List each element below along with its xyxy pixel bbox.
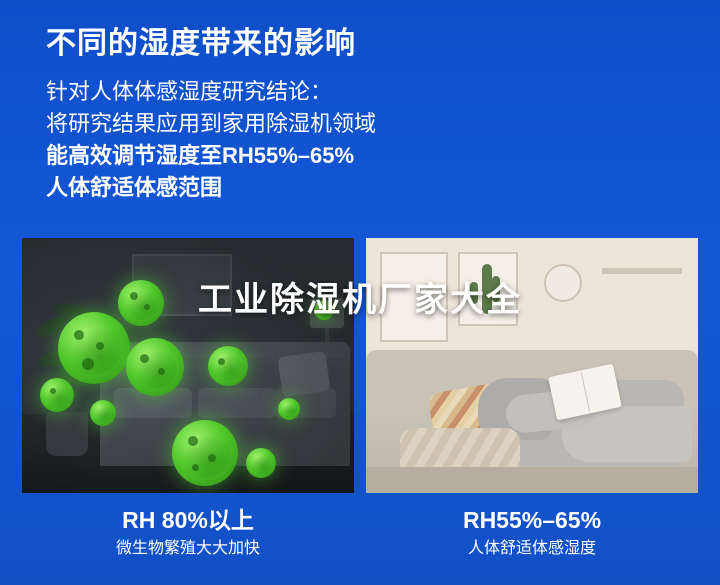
body-text-block: 针对人体体感湿度研究结论： 将研究结果应用到家用除湿机领域 能高效调节湿度至RH…: [46, 76, 686, 204]
microbe-blob-icon: [278, 398, 300, 420]
microbe-blob-icon: [246, 448, 276, 478]
overlay-headline: 工业除湿机厂家大全: [0, 272, 720, 321]
caption-left-main: RH 80%以上: [22, 505, 354, 535]
caption-left-sub: 微生物繁殖大大加快: [22, 537, 354, 561]
caption-right-sub: 人体舒适体感湿度: [366, 537, 698, 561]
poster-root: 不同的湿度带来的影响 针对人体体感湿度研究结论： 将研究结果应用到家用除湿机领域…: [0, 0, 720, 585]
microbe-blob-icon: [172, 420, 238, 486]
microbe-blob-icon: [126, 338, 184, 396]
microbe-blob-icon: [90, 400, 116, 426]
caption-left: RH 80%以上 微生物繁殖大大加快: [22, 505, 354, 561]
living-room-floor: [366, 467, 698, 493]
microbe-blob-icon: [208, 346, 248, 386]
body-line-1: 针对人体体感湿度研究结论：: [46, 76, 686, 108]
body-line-2: 将研究结果应用到家用除湿机领域: [46, 108, 686, 140]
caption-right: RH55%–65% 人体舒适体感湿度: [366, 505, 698, 561]
caption-row: RH 80%以上 微生物繁殖大大加快 RH55%–65% 人体舒适体感湿度: [22, 505, 698, 561]
microbe-blob-icon: [40, 378, 74, 412]
body-line-3: 能高效调节湿度至RH55%–65%: [46, 140, 686, 172]
microbe-blob-icon: [58, 312, 130, 384]
body-line-4: 人体舒适体感范围: [46, 172, 686, 204]
caption-right-main: RH55%–65%: [366, 505, 698, 535]
page-title: 不同的湿度带来的影响: [46, 18, 356, 62]
